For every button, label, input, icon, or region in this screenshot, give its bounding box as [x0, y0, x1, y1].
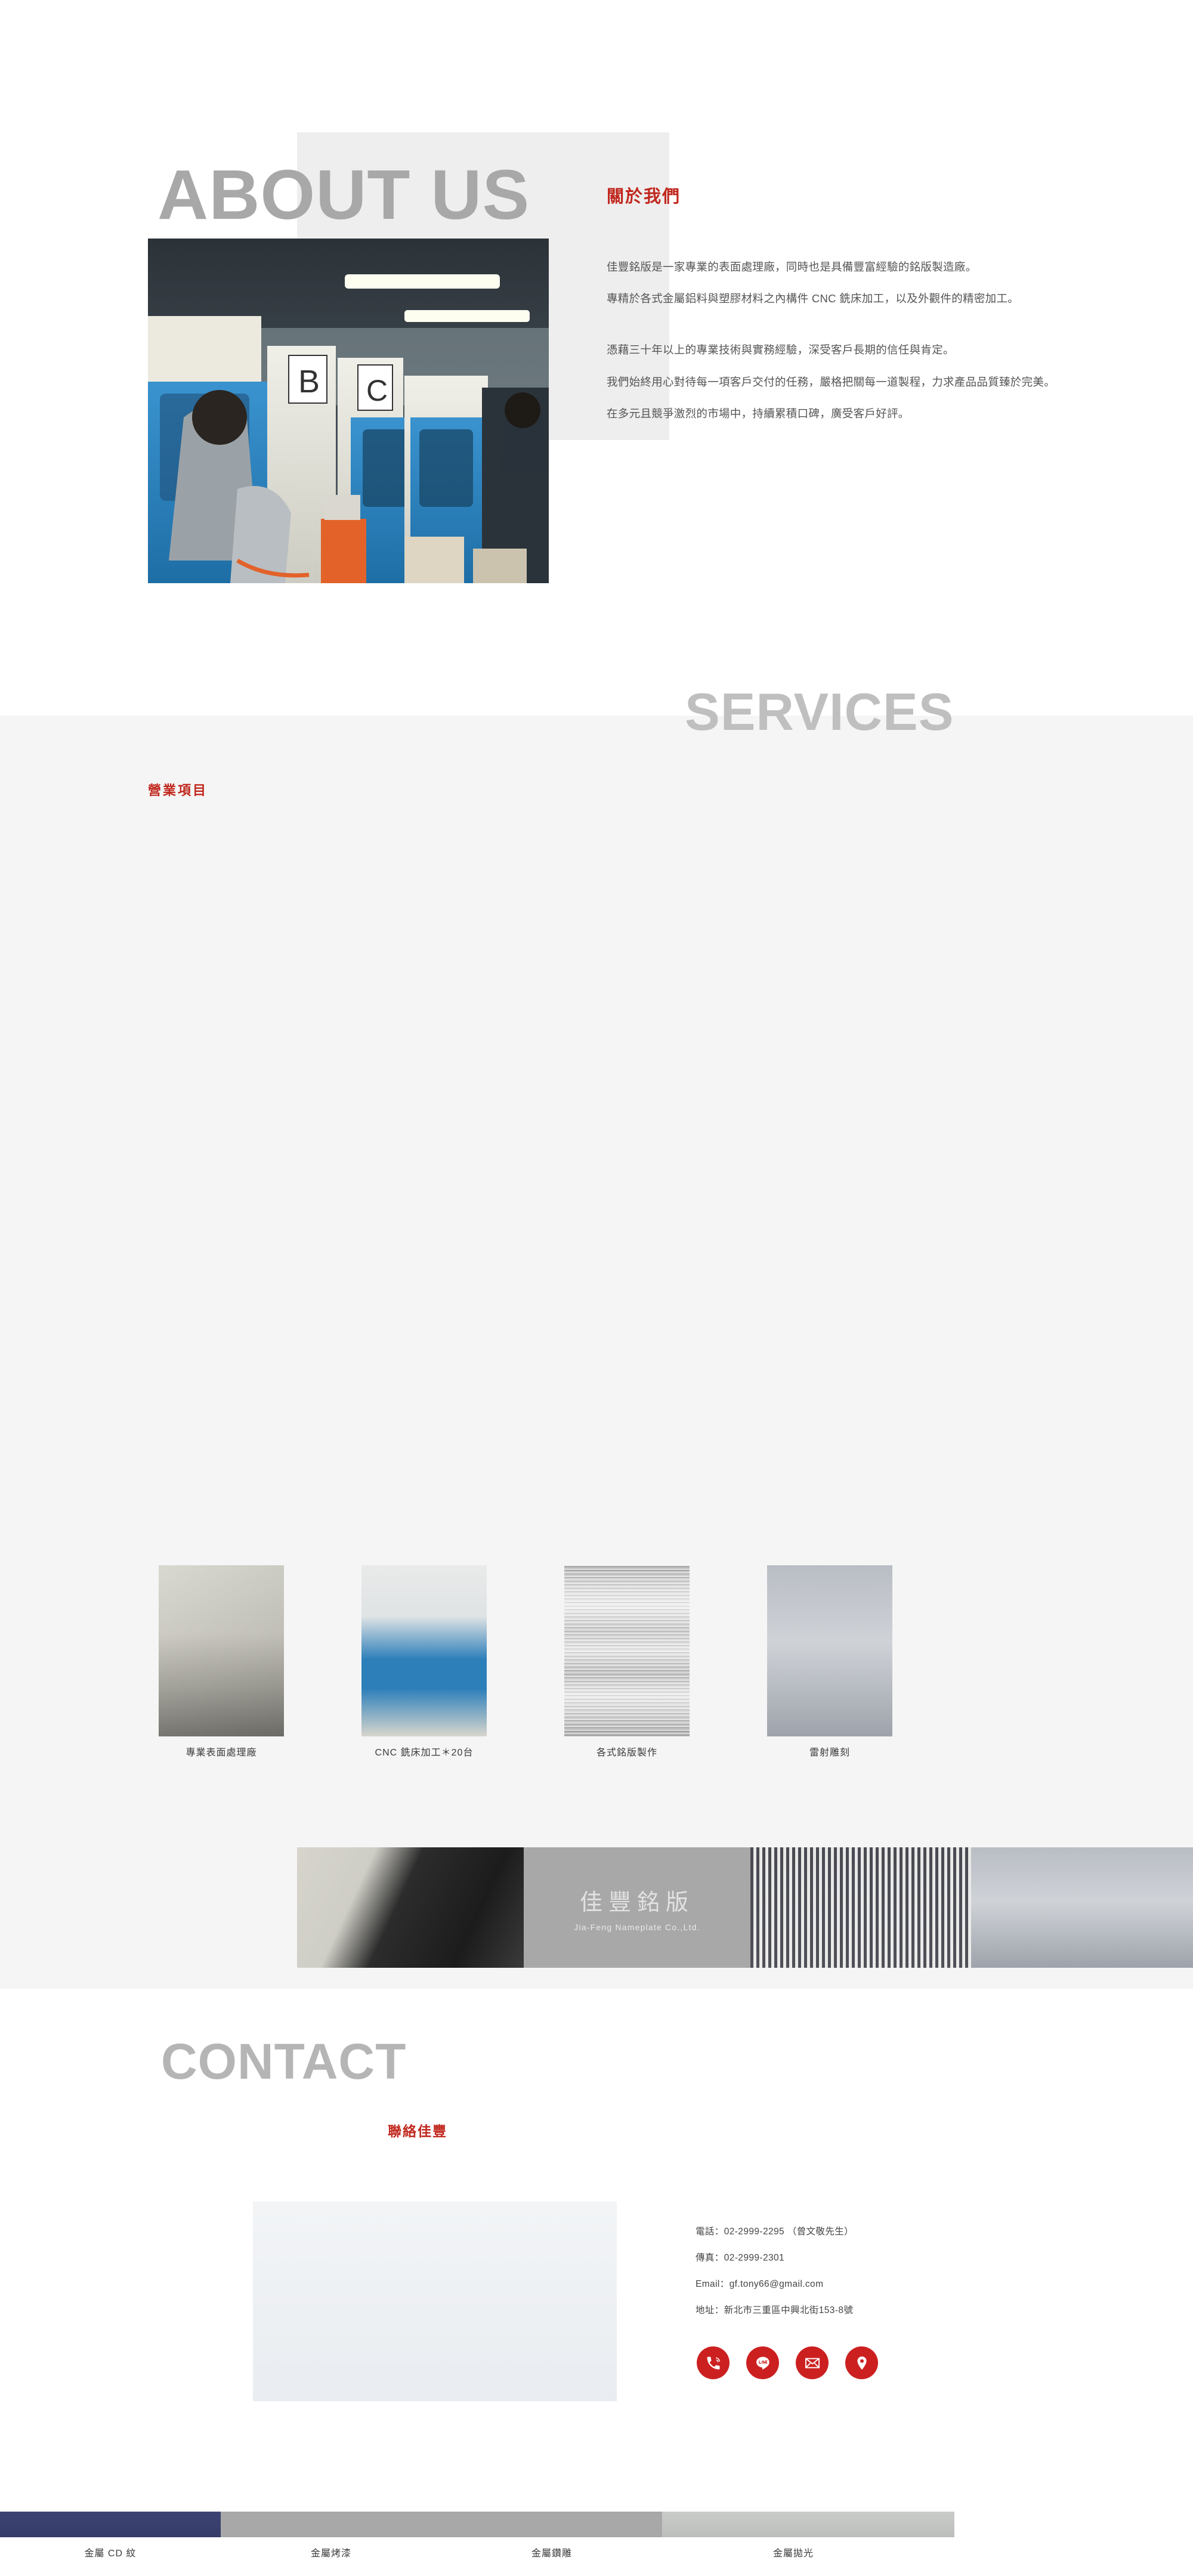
service-label: 金屬拋光	[662, 2545, 925, 2559]
about-paragraph-1: 佳豐銘版是一家專業的表面處理廠，同時也是具備豐富經驗的銘版製造廠。	[607, 259, 1060, 276]
service-label: 金屬 CD 紋	[0, 2545, 221, 2559]
about-paragraph-3: 憑藉三十年以上的專業技術與實務經驗，深受客戶長期的信任與肯定。	[607, 342, 1060, 359]
about-paragraphs: 佳豐銘版是一家專業的表面處理廠，同時也是具備豐富經驗的銘版製造廠。 專精於各式金…	[607, 259, 1060, 423]
service-thumbnail	[361, 1565, 487, 1736]
watermark-cn: 佳豐銘版	[580, 1884, 694, 1916]
service-thumbnail	[971, 1847, 1193, 1968]
svg-text:B: B	[298, 364, 320, 400]
service-thumbnail	[297, 1847, 524, 1968]
service-card[interactable]: 雷射雕刻	[756, 1565, 903, 1756]
about-paragraph-2: 專精於各式金屬鋁料與塑膠材料之內構件 CNC 銑床加工，以及外觀件的精密加工。	[607, 290, 1060, 308]
about-text-column: 關於我們 佳豐銘版是一家專業的表面處理廠，同時也是具備豐富經驗的銘版製造廠。 專…	[607, 186, 1060, 438]
service-label: CNC 銑床加工＊20台	[351, 1744, 497, 1758]
service-label: 金屬烤漆	[221, 2545, 441, 2559]
service-thumbnail	[750, 1847, 971, 1968]
contact-subheading: 聯絡佳豐	[388, 2120, 447, 2140]
service-label: 雷射雕刻	[756, 1744, 903, 1758]
about-heading: ABOUT US	[157, 160, 530, 230]
service-card[interactable]: 各式銘版製作	[554, 1565, 700, 1756]
contact-address: 地址：新北市三重區中興北街153-8號	[696, 2303, 854, 2316]
service-thumbnail: 佳豐銘版 Jia-Feng Nameplate Co.,Ltd.	[524, 1847, 750, 1968]
services-heading: SERVICES	[685, 686, 954, 738]
phone-icon[interactable]	[697, 2346, 730, 2379]
watermark-en: Jia-Feng Nameplate Co.,Ltd.	[574, 1922, 700, 1932]
svg-text:C: C	[366, 374, 388, 407]
location-pin-icon[interactable]	[845, 2346, 878, 2379]
service-thumbnail	[767, 1565, 892, 1736]
about-factory-photo: B C	[148, 239, 549, 583]
contact-map[interactable]: 中興北街155巷 光復路二段42巷 光復路二段42 中興北街104巷 554巷 …	[253, 2202, 617, 2401]
map-background	[253, 2202, 617, 2401]
service-label: 專業表面處理廠	[148, 1744, 295, 1758]
social-links	[697, 2346, 878, 2379]
contact-heading: CONTACT	[161, 2036, 406, 2086]
contact-phone: 電話：02-2999-2295 （曾文敬先生）	[696, 2224, 854, 2237]
line-icon[interactable]	[746, 2346, 779, 2379]
contact-info-list: 電話：02-2999-2295 （曾文敬先生） 傳真：02-2999-2301 …	[696, 2224, 854, 2329]
contact-fax: 傳真：02-2999-2301	[696, 2250, 854, 2264]
service-label: 各式銘版製作	[554, 1744, 700, 1758]
services-subheading: 營業項目	[148, 780, 208, 799]
about-subheading: 關於我們	[607, 186, 1060, 209]
service-card[interactable]: 專業表面處理廠	[148, 1565, 295, 1756]
watermark-placeholder: 佳豐銘版 Jia-Feng Nameplate Co.,Ltd.	[524, 1847, 750, 1968]
service-card[interactable]: CNC 銑床加工＊20台	[351, 1565, 497, 1756]
about-section: ABOUT US B	[0, 0, 1193, 716]
service-label: 金屬鑽雕	[441, 2545, 662, 2559]
about-paragraph-4: 我們始終用心對待每一項客戶交付的任務，嚴格把關每一道製程，力求產品品質臻於完美。	[607, 374, 1060, 391]
factory-photo-art: B C	[148, 239, 549, 583]
services-section	[0, 716, 1193, 1989]
service-thumbnail	[564, 1565, 690, 1736]
about-paragraph-5: 在多元且競爭激烈的市場中，持續累積口碑，廣受客戶好評。	[607, 405, 1060, 423]
contact-email: Email：gf.tony66@gmail.com	[696, 2277, 854, 2290]
email-icon[interactable]	[796, 2346, 829, 2379]
service-thumbnail	[159, 1565, 284, 1736]
